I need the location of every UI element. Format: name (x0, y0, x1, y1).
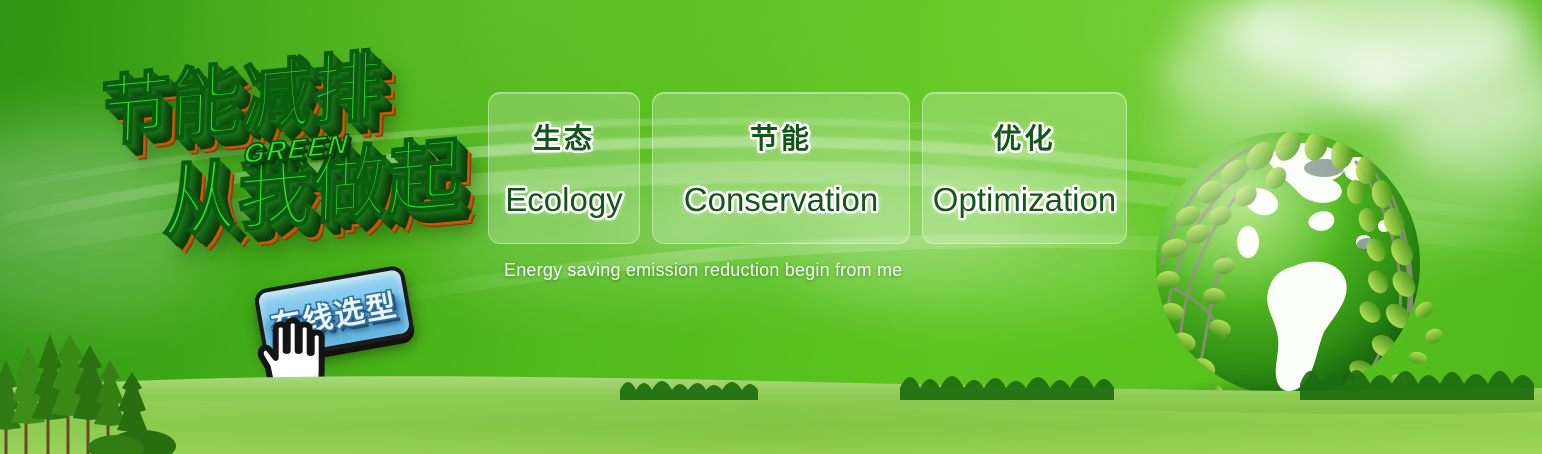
hero-3d-logo: 节能减排 GREEN 从我做起 (85, 15, 506, 292)
green-globe-icon (1128, 96, 1448, 434)
feature-card-group: 生态 Ecology 节能 Conservation 优化 Optimizati… (488, 92, 1127, 244)
eco-hero-banner: 节能减排 GREEN 从我做起 在线选型 生态 Ecology 节能 Conse… (0, 0, 1542, 454)
cloud-icon (1230, 0, 1530, 92)
feature-card-en-label: Optimization (933, 181, 1116, 219)
feature-card-cn-label: 节能 (750, 117, 812, 157)
feature-card-cn-label: 生态 (533, 117, 595, 157)
banner-tagline: Energy saving emission reduction begin f… (504, 260, 902, 281)
feature-card-optimization[interactable]: 优化 Optimization (922, 92, 1127, 244)
feature-card-en-label: Conservation (684, 181, 878, 219)
online-selection-button[interactable]: 在线选型 (253, 264, 415, 361)
hand-pointer-icon (242, 306, 343, 415)
cloud-icon (1180, 0, 1300, 50)
feature-card-ecology[interactable]: 生态 Ecology (488, 92, 640, 244)
feature-card-en-label: Ecology (505, 181, 622, 219)
feature-card-conservation[interactable]: 节能 Conservation (652, 92, 910, 244)
pine-tree-cluster (0, 334, 190, 454)
feature-card-cn-label: 优化 (993, 117, 1055, 157)
